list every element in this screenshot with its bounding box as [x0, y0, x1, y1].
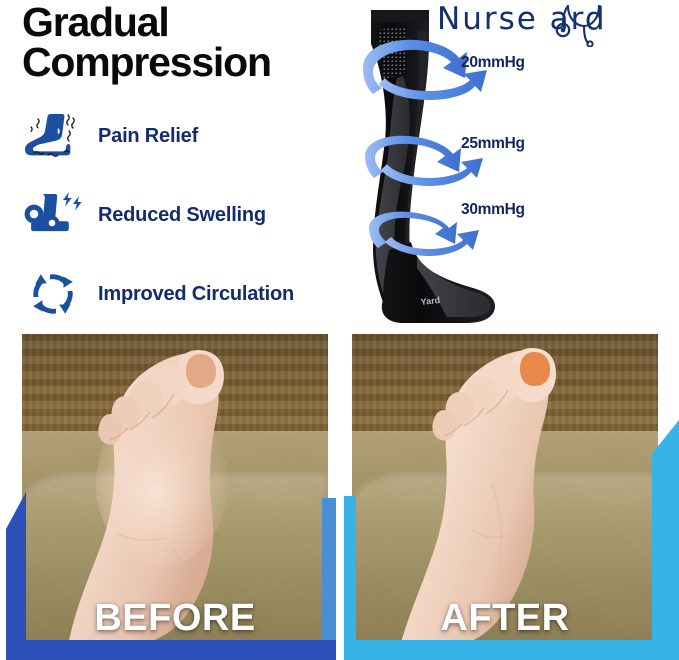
page-title-line-1: Gradual	[22, 2, 382, 42]
benefit-item-reduced-swelling: Reduced Swelling	[22, 189, 352, 241]
pressure-label-20mmhg: 20mmHg	[461, 54, 525, 72]
benefit-item-pain-relief: Pain Relief	[22, 110, 352, 162]
after-photo-panel: AFTER	[352, 334, 658, 646]
sock-wordmark: Yard	[420, 295, 440, 307]
benefit-label: Pain Relief	[98, 125, 198, 148]
foot-swelling-bolts-icon	[22, 189, 84, 241]
stethoscope-icon	[555, 3, 611, 47]
benefit-label: Improved Circulation	[98, 283, 294, 306]
page-title: Gradual Compression	[22, 2, 382, 82]
before-caption: BEFORE	[22, 597, 328, 640]
compression-sock-illustration: Yard	[355, 0, 515, 325]
after-caption: AFTER	[352, 597, 658, 640]
before-frame-bottom-accent	[6, 640, 336, 660]
before-photo-panel: BEFORE	[22, 334, 328, 646]
circular-arrows-cycle-icon	[22, 268, 84, 320]
benefit-label: Reduced Swelling	[98, 204, 266, 227]
foot-pain-waves-icon	[22, 110, 84, 162]
pressure-label-30mmhg: 30mmHg	[461, 201, 525, 219]
pressure-label-25mmhg: 25mmHg	[461, 135, 525, 153]
after-frame-bottom-accent	[344, 640, 679, 660]
page-title-line-2: Compression	[22, 42, 382, 82]
benefit-item-improved-circulation: Improved Circulation	[22, 268, 352, 320]
